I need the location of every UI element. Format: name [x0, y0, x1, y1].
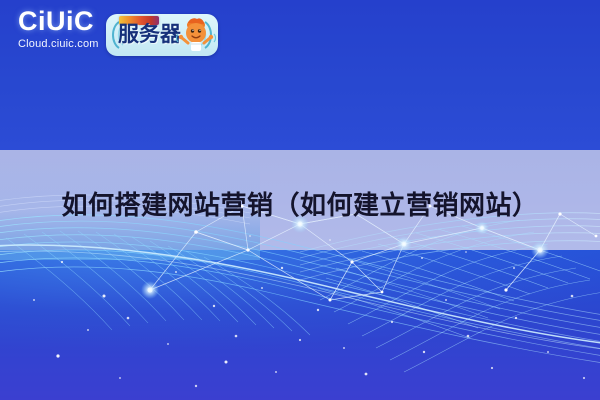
- site-logo[interactable]: CiUiC Cloud.ciuic.com: [18, 6, 114, 51]
- logo-wordmark: CiUiC: [18, 6, 114, 36]
- badge-label: 服务器: [118, 22, 181, 48]
- bottom-glow-wash: [0, 250, 600, 400]
- page-title: 如何搭建网站营销（如何建立营销网站）: [0, 189, 600, 223]
- article-cover-banner: CiUiC Cloud.ciuic.com 服务器: [0, 0, 600, 400]
- orange-mascot-icon: [176, 15, 216, 55]
- server-badge[interactable]: 服务器: [106, 14, 218, 56]
- logo-domain: Cloud.ciuic.com: [18, 37, 114, 51]
